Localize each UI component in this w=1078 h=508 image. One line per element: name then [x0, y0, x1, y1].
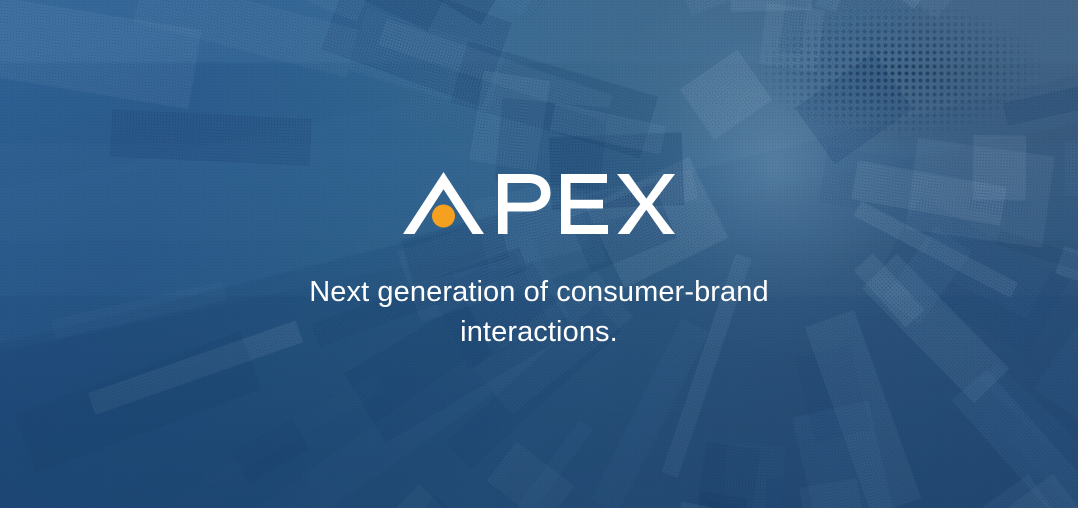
hero-banner: Next generation of consumer-brand intera…: [0, 0, 1078, 508]
apex-logo: [403, 172, 675, 238]
letter-p: [498, 174, 551, 234]
letter-x: [617, 174, 675, 234]
hero-content: Next generation of consumer-brand intera…: [0, 0, 1078, 508]
apex-logo-svg: [403, 172, 675, 238]
hero-tagline: Next generation of consumer-brand intera…: [259, 272, 819, 352]
tagline-line-2: interactions.: [460, 316, 618, 348]
orange-accent-dot: [432, 205, 455, 228]
tagline-line-1: Next generation of consumer-brand: [309, 276, 769, 308]
letter-e: [561, 174, 608, 234]
